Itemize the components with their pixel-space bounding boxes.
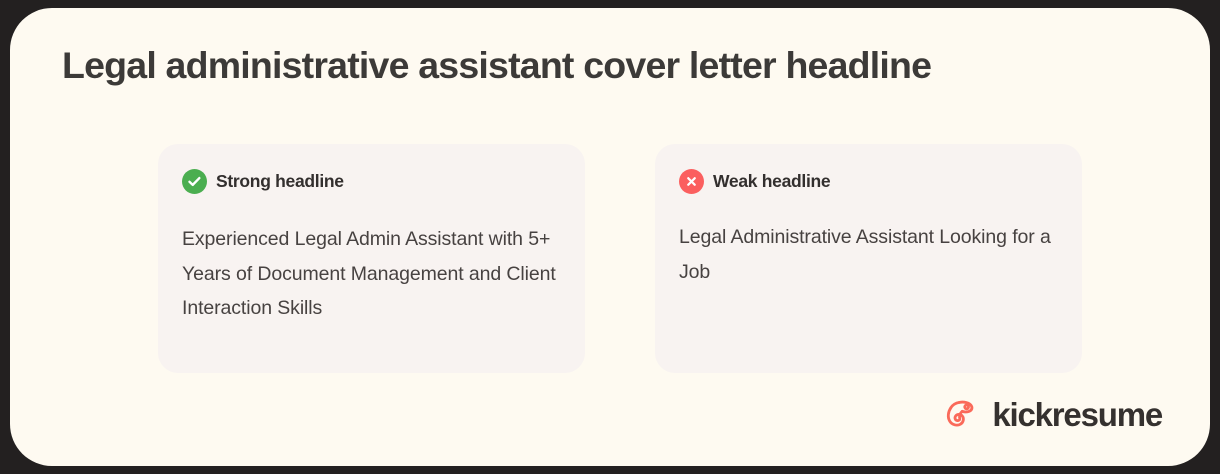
content-panel: Legal administrative assistant cover let… [10,8,1210,466]
kickresume-chameleon-icon [939,394,979,434]
page-title: Legal administrative assistant cover let… [62,41,1182,89]
weak-headline-example-text: Legal Administrative Assistant Looking f… [679,220,1058,289]
weak-headline-label: Weak headline [713,171,830,192]
kickresume-wordmark: kickresume [992,398,1162,431]
weak-headline-card-header: Weak headline [679,166,1058,196]
weak-headline-card: Weak headline Legal Administrative Assis… [655,144,1082,373]
strong-headline-example-text: Experienced Legal Admin Assistant with 5… [182,222,561,326]
kickresume-logo: kickresume [939,394,1162,434]
strong-headline-card-header: Strong headline [182,166,561,196]
strong-headline-card: Strong headline Experienced Legal Admin … [158,144,585,373]
headline-comparison-cards: Strong headline Experienced Legal Admin … [158,144,1082,373]
x-circle-icon [679,169,704,194]
strong-headline-label: Strong headline [216,171,344,192]
check-circle-icon [182,169,207,194]
